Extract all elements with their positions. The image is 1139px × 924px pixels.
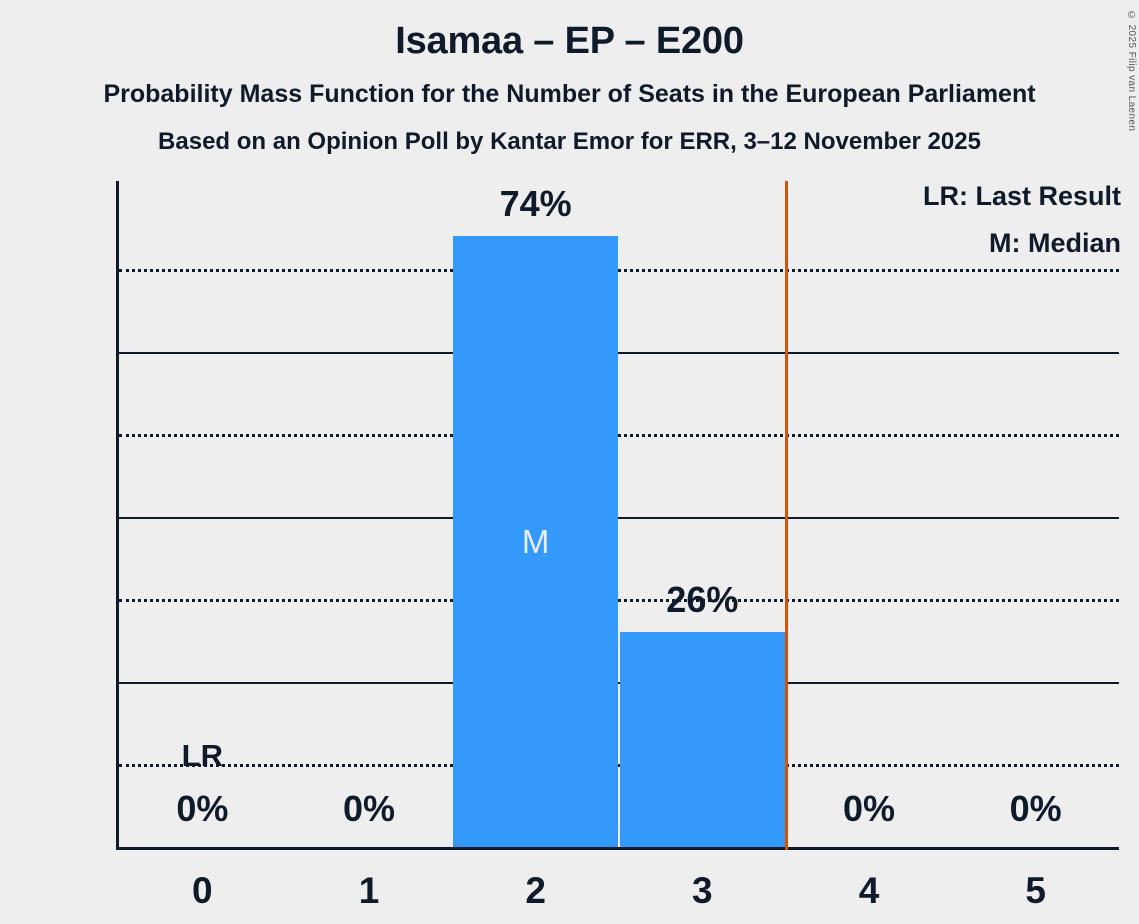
x-axis-tick-label: 4 [786, 872, 953, 909]
x-axis-tick-label: 2 [452, 872, 619, 909]
copyright-notice: © 2025 Filip van Laenen [1126, 10, 1137, 131]
bar-value-label: 0% [119, 791, 286, 827]
chart-source-caption: Based on an Opinion Poll by Kantar Emor … [0, 130, 1139, 154]
bar-fill [620, 632, 785, 847]
x-axis-line [116, 847, 1119, 850]
plot-area: 0%0%74%26%0%0%MLR 012345 20%40%60% [119, 181, 1119, 847]
gridline-minor [119, 434, 1119, 437]
bar [619, 632, 786, 847]
gridline-minor [119, 269, 1119, 272]
gridline-major [119, 352, 1119, 354]
chart-subtitle: Probability Mass Function for the Number… [0, 82, 1139, 107]
bar-value-label: 0% [286, 791, 453, 827]
x-axis-tick-label: 0 [119, 872, 286, 909]
last-result-threshold-line [785, 181, 788, 850]
bar-value-label: 0% [952, 791, 1119, 827]
last-result-marker: LR [119, 740, 286, 771]
bar-value-label: 0% [786, 791, 953, 827]
x-axis-tick-label: 3 [619, 872, 786, 909]
median-marker: M [452, 525, 619, 558]
x-axis-tick-label: 1 [286, 872, 453, 909]
gridline-major [119, 517, 1119, 519]
bar-value-label: 26% [619, 582, 786, 618]
x-axis-tick-label: 5 [952, 872, 1119, 909]
page-title: Isamaa – EP – E200 [0, 22, 1139, 60]
bar-value-label: 74% [452, 186, 619, 222]
chart-header: Isamaa – EP – E200 Probability Mass Func… [0, 0, 1139, 154]
